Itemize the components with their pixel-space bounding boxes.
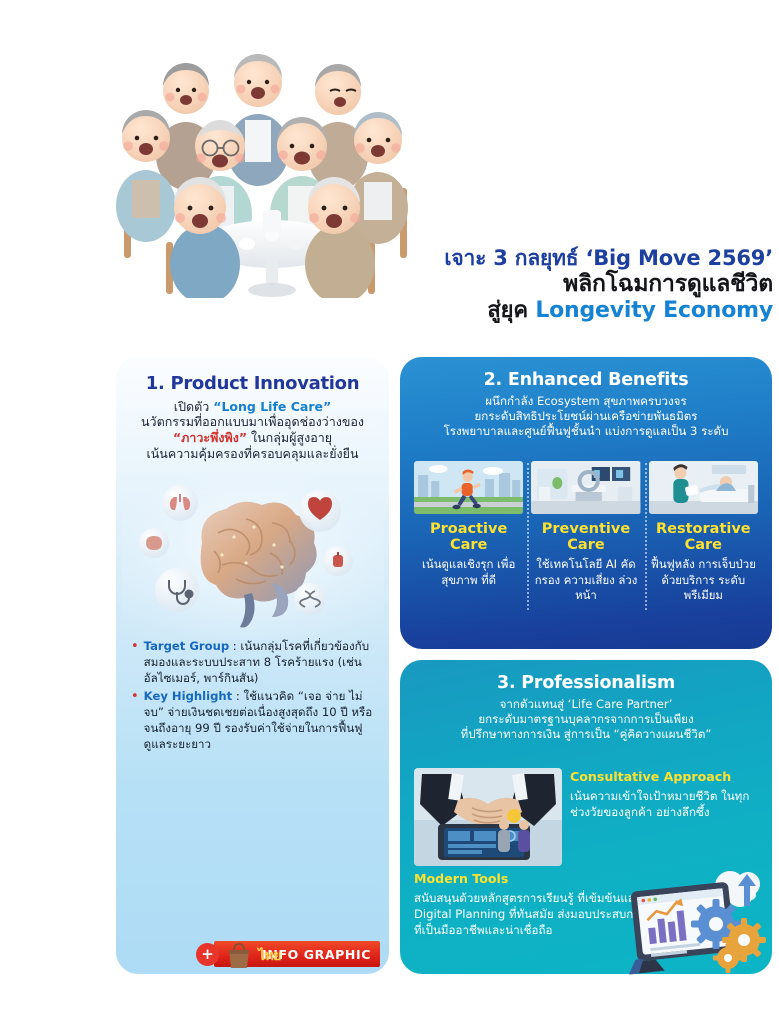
page-title: เจาะ 3 กลยุทธ์ ‘Big Move 2569’ พลิกโฉมกา…	[405, 246, 773, 324]
bullet-body: Target Group : เน้นกลุ่มโรคที่เกี่ยวข้อง…	[144, 639, 377, 687]
care-level-preventive: PreventiveCare ใช้เทคโนโลยี AI คัดกรอง ค…	[527, 461, 644, 604]
card2-heading: 2. Enhanced Benefits	[412, 369, 760, 391]
care-level-proactive: ProactiveCare เน้นดูแลเชิงรุก เพื่อสุขภา…	[410, 461, 527, 604]
care-level-restorative: RestorativeCare ฟื้นฟูหลัง การเจ็บป่วย ด…	[645, 461, 762, 604]
care-level-desc: ฟื้นฟูหลัง การเจ็บป่วย ด้วยบริการ ระดับพ…	[649, 557, 758, 604]
bullet-body: Key Highlight : ใช้แนวคิด “เจอ จ่าย ไม่จ…	[144, 689, 377, 753]
bullet-dot-icon: •	[131, 639, 139, 687]
tablet-analytics-icon	[618, 862, 776, 980]
card1-bullet-list: • Target Group : เน้นกลุ่มโรคที่เกี่ยวข้…	[131, 639, 377, 755]
list-item: • Target Group : เน้นกลุ่มโรคที่เกี่ยวข้…	[131, 639, 377, 687]
consultative-approach-block: Consultative Approach เน้นความเข้าใจเป้า…	[570, 768, 766, 820]
bullet-label: Key Highlight	[144, 689, 233, 703]
badge-thai-text: ไทย	[258, 945, 281, 967]
medical-scan-room-photo-icon	[531, 461, 640, 514]
title-line-3: สู่ยุค Longevity Economy	[405, 298, 773, 324]
care-level-title: ProactiveCare	[414, 521, 523, 553]
care-level-desc: เน้นดูแลเชิงรุก เพื่อสุขภาพ ที่ดี	[414, 557, 523, 588]
infographic-canvas: เจาะ 3 กลยุทธ์ ‘Big Move 2569’ พลิกโฉมกา…	[0, 0, 779, 1024]
care-level-title: RestorativeCare	[649, 521, 758, 553]
card2-header: 2. Enhanced Benefits ผนึกกำลัง Ecosystem…	[400, 357, 772, 439]
info-graphic-badge: INFO GRAPHIC ไทย +	[196, 941, 380, 969]
card-enhanced-benefits: 2. Enhanced Benefits ผนึกกำลัง Ecosystem…	[400, 357, 772, 649]
card-product-innovation: 1. Product Innovation เปิดตัว “Long Life…	[116, 357, 389, 974]
list-item: • Key Highlight : ใช้แนวคิด “เจอ จ่าย ไม…	[131, 689, 377, 753]
title-accent: Longevity Economy	[535, 298, 773, 323]
runner-photo-icon	[414, 461, 523, 514]
card1-subtitle: เปิดตัว “Long Life Care” นวัตกรรมที่ออกแ…	[126, 399, 379, 462]
care-levels: ProactiveCare เน้นดูแลเชิงรุก เพื่อสุขภา…	[410, 461, 762, 604]
consultative-approach-label: Consultative Approach	[570, 768, 766, 786]
brain-medical-illustration	[122, 475, 384, 640]
card2-subtitle: ผนึกกำลัง Ecosystem สุขภาพครบวงจร ยกระดั…	[412, 394, 760, 438]
shopping-bag-icon	[224, 940, 254, 970]
card3-header: 3. Professionalism จากตัวแทนสู่ ‘Life Ca…	[400, 660, 772, 742]
card3-subtitle: จากตัวแทนสู่ ‘Life Care Partner’ ยกระดับ…	[412, 697, 760, 741]
bullet-label: Target Group	[144, 639, 229, 653]
elderly-group-illustration	[100, 28, 445, 298]
title-line-1: เจาะ 3 กลยุทธ์ ‘Big Move 2569’	[405, 246, 773, 271]
care-level-desc: ใช้เทคโนโลยี AI คัดกรอง ความเสี่ยง ล่วงห…	[531, 557, 640, 604]
card3-heading: 3. Professionalism	[412, 672, 760, 694]
title-line-2: พลิกโฉมการดูแลชีวิต	[405, 271, 773, 298]
care-level-title: PreventiveCare	[531, 521, 640, 553]
nurse-patient-photo-icon	[649, 461, 758, 514]
bullet-dot-icon: •	[131, 689, 139, 753]
thairath-logo-icon: +	[196, 943, 219, 966]
card1-heading: 1. Product Innovation	[126, 373, 379, 396]
consultative-approach-text: เน้นความเข้าใจเป้าหมายชีวิต ในทุกช่วงวัย…	[570, 788, 766, 820]
dependency-state-label: “ภาวะพึ่งพิง”	[173, 430, 247, 445]
card1-header: 1. Product Innovation เปิดตัว “Long Life…	[116, 357, 389, 462]
handshake-tablet-photo-icon	[414, 768, 562, 866]
long-life-care-label: “Long Life Care”	[213, 399, 331, 414]
